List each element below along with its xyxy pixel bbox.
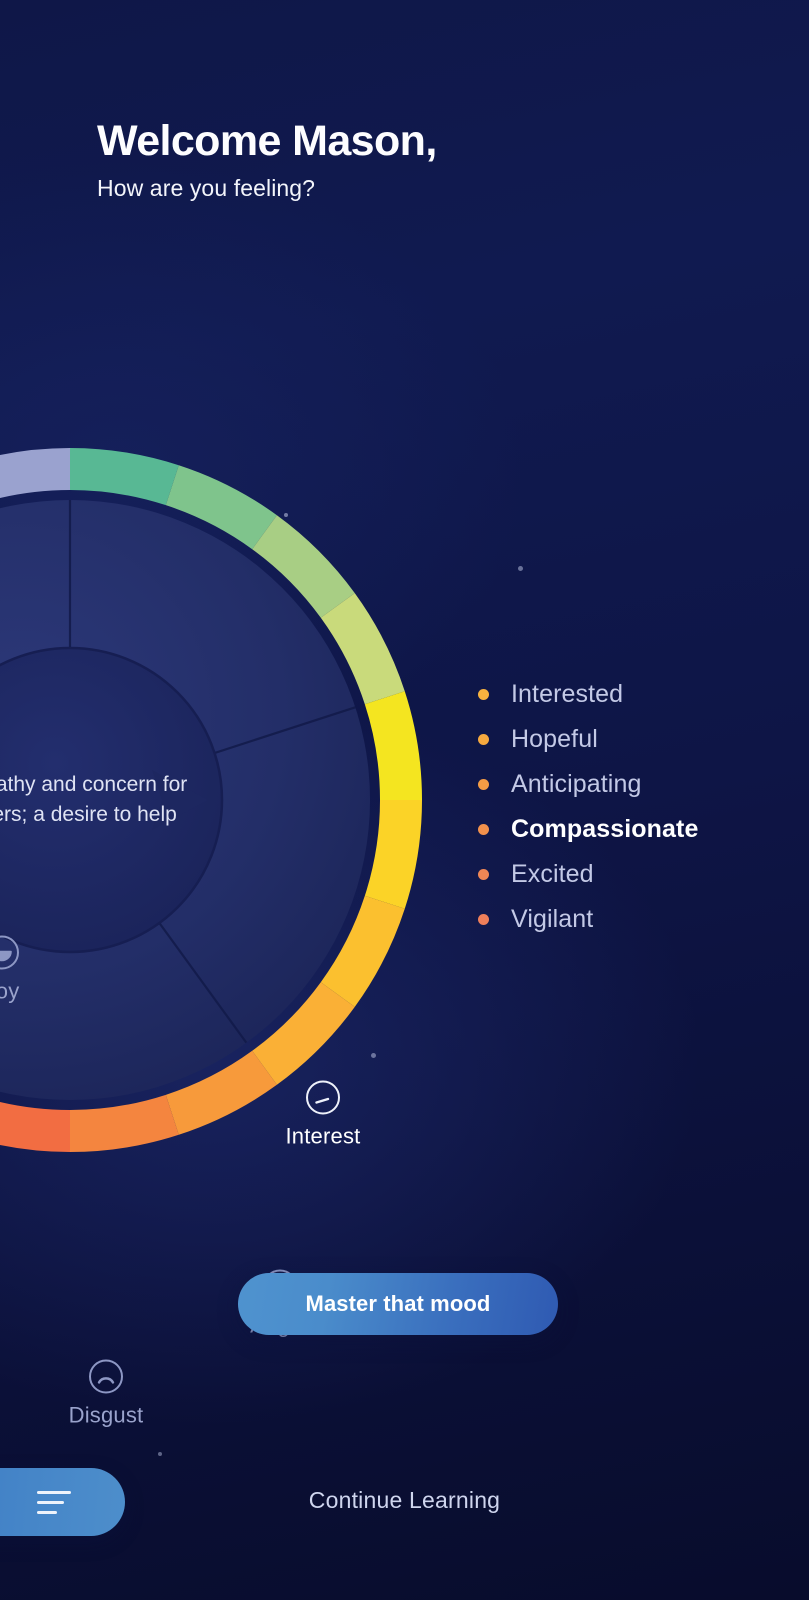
emotion-bullet-icon	[478, 689, 489, 700]
emotion-list-item[interactable]: Excited	[478, 852, 698, 897]
emotion-label: Vigilant	[511, 905, 593, 934]
emotion-list-item[interactable]: Compassionate	[478, 807, 698, 852]
emotion-label: Hopeful	[511, 725, 598, 754]
ring-segment	[70, 448, 179, 505]
ring-segment	[0, 1095, 70, 1152]
emotion-bullet-icon	[478, 869, 489, 880]
page-header: Welcome Mason, How are you feeling?	[97, 118, 737, 202]
cta-label: Master that mood	[306, 1291, 491, 1317]
emotion-list-item[interactable]: Hopeful	[478, 717, 698, 762]
wheel-segment-disgust[interactable]: Disgust	[31, 1356, 181, 1429]
emotion-list-item[interactable]: Vigilant	[478, 897, 698, 942]
emotion-label: Interested	[511, 680, 623, 709]
ring-segment	[365, 691, 422, 800]
emotion-label: Compassionate	[511, 815, 698, 844]
emotion-label: Excited	[511, 860, 594, 889]
page-subtitle: How are you feeling?	[97, 175, 737, 202]
emotion-list[interactable]: InterestedHopefulAnticipatingCompassiona…	[478, 672, 698, 942]
emotion-wheel[interactable]: Trust Joy Interest Anger	[0, 440, 430, 1160]
continue-learning-link[interactable]: Continue Learning	[0, 1487, 809, 1514]
wheel-segment-label: Disgust	[69, 1403, 144, 1428]
ring-segment	[365, 800, 422, 909]
emotion-bullet-icon	[478, 779, 489, 790]
ring-segment	[70, 1095, 179, 1152]
emotion-bullet-icon	[478, 824, 489, 835]
emotion-list-item[interactable]: Interested	[478, 672, 698, 717]
emotion-wheel-graphic[interactable]	[0, 440, 430, 1160]
app-screen: Welcome Mason, How are you feeling?	[0, 0, 809, 1600]
master-that-mood-button[interactable]: Master that mood	[238, 1273, 558, 1335]
frown-face-icon	[85, 1356, 127, 1398]
emotion-label: Anticipating	[511, 770, 641, 799]
ring-segment	[0, 448, 70, 505]
emotion-bullet-icon	[478, 734, 489, 745]
emotion-bullet-icon	[478, 914, 489, 925]
emotion-list-item[interactable]: Anticipating	[478, 762, 698, 807]
page-title: Welcome Mason,	[97, 118, 737, 164]
